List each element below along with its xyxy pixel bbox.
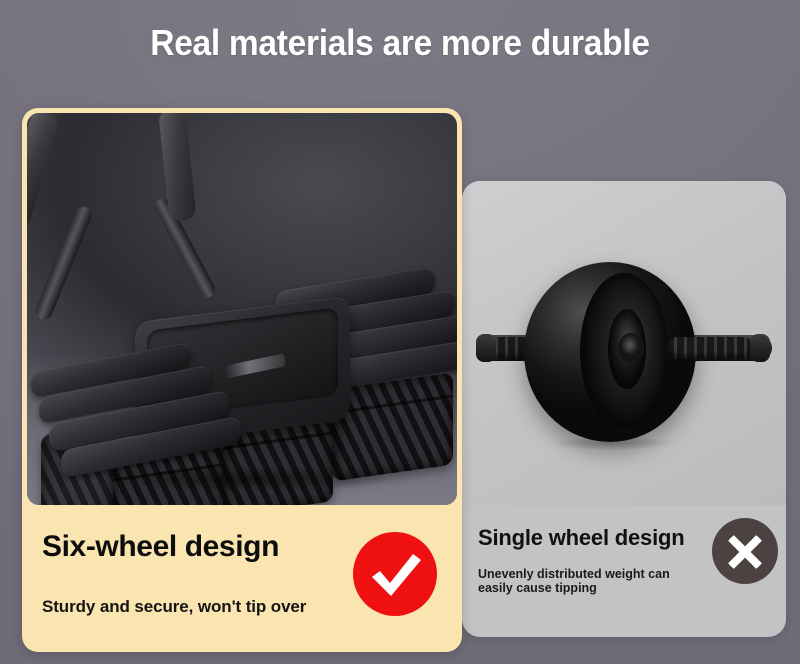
- comparison-card-six-wheel: Six-wheel design Sturdy and secure, won'…: [22, 108, 462, 652]
- check-icon-glyph: [369, 551, 423, 599]
- six-wheel-caption: Six-wheel design Sturdy and secure, won'…: [22, 506, 462, 652]
- six-wheel-title: Six-wheel design: [42, 530, 279, 564]
- check-circle-icon: [353, 532, 437, 616]
- single-wheel-subtitle: Unevenly distributed weight can easily c…: [478, 567, 703, 596]
- single-wheel-endcap-left: [476, 334, 496, 362]
- x-circle-icon: [712, 518, 778, 584]
- single-wheel-title: Single wheel design: [478, 525, 684, 551]
- single-wheel-caption: Single wheel design Unevenly distributed…: [462, 506, 786, 637]
- six-wheel-handle-stem-left: [33, 204, 94, 322]
- six-wheel-ground-shadow: [47, 461, 447, 497]
- page-title: Real materials are more durable: [28, 22, 772, 64]
- six-wheel-handle-grip-left: [27, 113, 60, 230]
- brand-logo-emboss: [225, 353, 286, 378]
- comparison-card-single-wheel: Single wheel design Unevenly distributed…: [462, 181, 786, 637]
- single-wheel-subtitle-line-2: cause tipping: [516, 581, 597, 595]
- six-wheel-subtitle: Sturdy and secure, won't tip over: [42, 597, 306, 617]
- single-wheel-endcap-right: [750, 334, 770, 362]
- single-wheel-axle: [618, 333, 644, 363]
- single-wheel-grip-right: [667, 337, 753, 359]
- single-wheel-product-image: [462, 181, 786, 506]
- product-comparison-banner: Real materials are more durable Single w…: [0, 0, 800, 664]
- six-wheel-product-image: [27, 113, 457, 505]
